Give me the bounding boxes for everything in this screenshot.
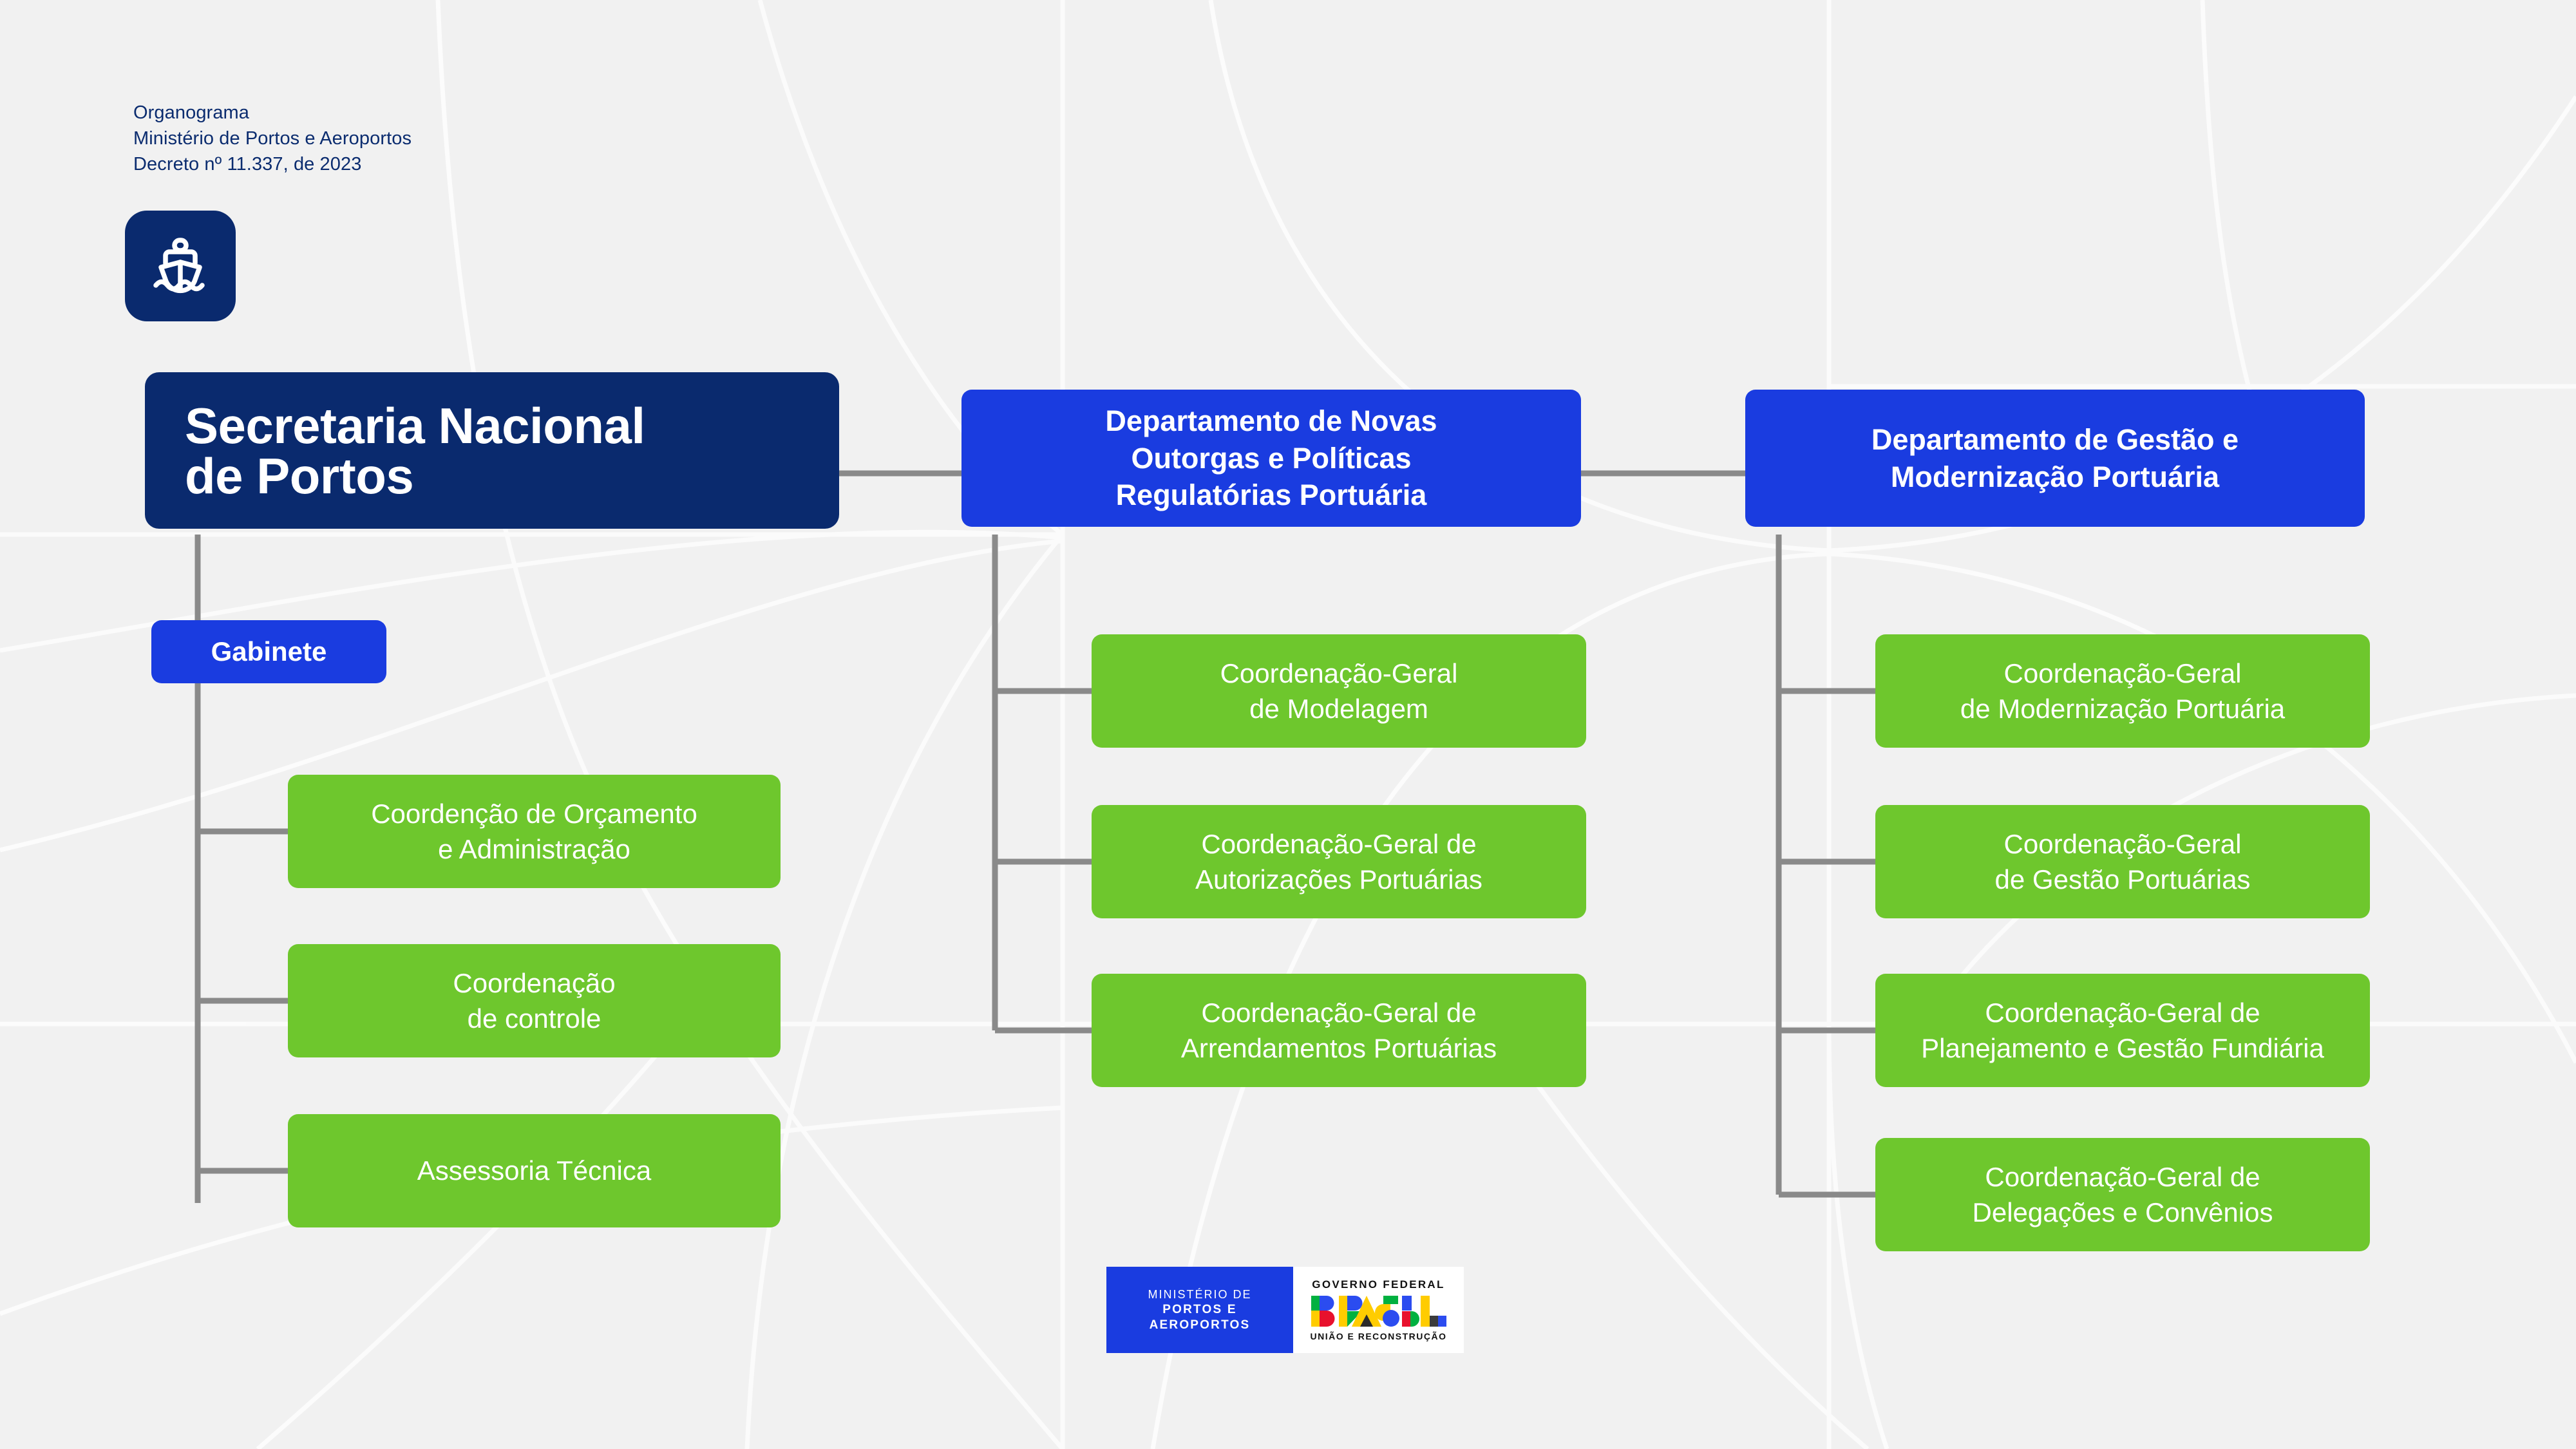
node-cg-modelagem[interactable]: Coordenação-Geral de Modelagem bbox=[1092, 634, 1586, 748]
government-logo-bottom-text: UNIÃO E RECONSTRUÇÃO bbox=[1310, 1331, 1446, 1341]
node-label: Coordenação-Geral de Modelagem bbox=[1220, 656, 1458, 727]
node-cg-autorizacoes-portuarias[interactable]: Coordenação-Geral de Autorizações Portuá… bbox=[1092, 805, 1586, 918]
ministry-logo-line1: MINISTÉRIO DE bbox=[1148, 1288, 1251, 1302]
node-label: Gabinete bbox=[211, 636, 327, 667]
node-label: Departamento de Novas Outorgas e Polític… bbox=[1105, 402, 1437, 514]
government-logo-top-text: GOVERNO FEDERAL bbox=[1312, 1278, 1444, 1291]
ministry-logo-line2: PORTOS E bbox=[1162, 1303, 1236, 1317]
node-label: Assessoria Técnica bbox=[417, 1153, 651, 1188]
node-label: Coordenção de Orçamento e Administração bbox=[371, 796, 697, 867]
node-coordencao-orcamento-administracao[interactable]: Coordenção de Orçamento e Administração bbox=[288, 775, 781, 888]
node-label: Coordenação-Geral de Modernização Portuá… bbox=[1960, 656, 2285, 727]
node-cg-modernizacao-portuaria[interactable]: Coordenação-Geral de Modernização Portuá… bbox=[1875, 634, 2370, 748]
node-label: Departamento de Gestão e Modernização Po… bbox=[1871, 421, 2239, 495]
node-label: Coordenação-Geral de Delegações e Convên… bbox=[1973, 1159, 2273, 1231]
node-label: Coordenação-Geral de Arrendamentos Portu… bbox=[1181, 995, 1497, 1066]
government-logo: GOVERNO FEDERAL bbox=[1293, 1267, 1464, 1353]
node-coordenacao-de-controle[interactable]: Coordenação de controle bbox=[288, 944, 781, 1057]
node-gabinete[interactable]: Gabinete bbox=[151, 620, 386, 683]
ministry-logo-line3: AEROPORTOS bbox=[1150, 1318, 1251, 1332]
node-label: Coordenação-Geral de Planejamento e Gest… bbox=[1921, 995, 2324, 1066]
node-cg-planejamento-gestao-fundiaria[interactable]: Coordenação-Geral de Planejamento e Gest… bbox=[1875, 974, 2370, 1087]
node-label: Secretaria Nacional de Portos bbox=[185, 401, 645, 501]
node-departamento-novas-outorgas[interactable]: Departamento de Novas Outorgas e Polític… bbox=[961, 390, 1581, 527]
footer-logos: MINISTÉRIO DE PORTOS E AEROPORTOS GOVERN… bbox=[1106, 1267, 1464, 1353]
node-cg-gestao-portuarias[interactable]: Coordenação-Geral de Gestão Portuárias bbox=[1875, 805, 2370, 918]
node-departamento-gestao-modernizacao[interactable]: Departamento de Gestão e Modernização Po… bbox=[1745, 390, 2365, 527]
node-label: Coordenação-Geral de Gestão Portuárias bbox=[1995, 826, 2251, 898]
node-label: Coordenação de controle bbox=[453, 965, 615, 1037]
node-secretaria-nacional-de-portos[interactable]: Secretaria Nacional de Portos bbox=[145, 372, 839, 529]
node-cg-arrendamentos-portuarias[interactable]: Coordenação-Geral de Arrendamentos Portu… bbox=[1092, 974, 1586, 1087]
node-assessoria-tecnica[interactable]: Assessoria Técnica bbox=[288, 1114, 781, 1227]
organogram-canvas: Organograma Ministério de Portos e Aerop… bbox=[0, 0, 2576, 1449]
node-cg-delegacoes-convenios[interactable]: Coordenação-Geral de Delegações e Convên… bbox=[1875, 1138, 2370, 1251]
ministry-logo: MINISTÉRIO DE PORTOS E AEROPORTOS bbox=[1106, 1267, 1293, 1353]
node-label: Coordenação-Geral de Autorizações Portuá… bbox=[1195, 826, 1482, 898]
brasil-wordmark-icon bbox=[1311, 1294, 1446, 1328]
